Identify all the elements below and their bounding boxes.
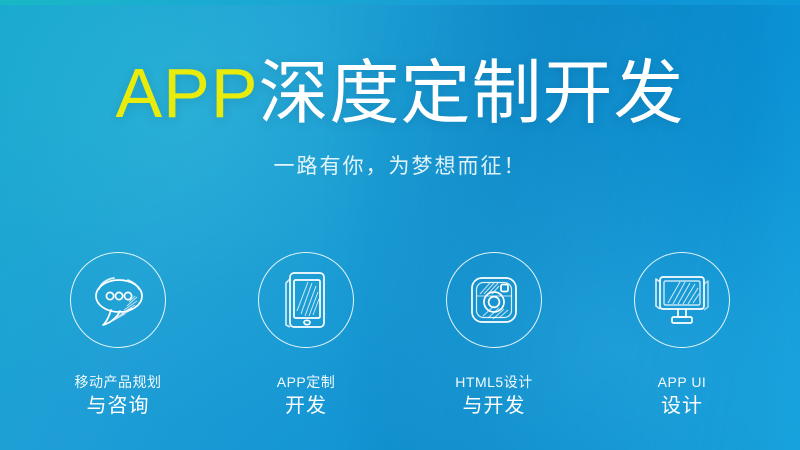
page-title: APP深度定制开发 xyxy=(0,58,800,128)
feature-label-bottom: 设计 xyxy=(658,395,707,419)
page-subtitle: 一路有你，为梦想而征！ xyxy=(0,150,800,180)
feature-list: 移动产品规划 与咨询 xyxy=(34,252,766,418)
feature-label-top: APP定制 xyxy=(277,374,336,391)
feature-icon-circle xyxy=(258,252,354,348)
promo-banner: APP深度定制开发 一路有你，为梦想而征！ xyxy=(0,0,800,450)
feature-label-bottom: 开发 xyxy=(277,395,336,419)
feature-label-top: APP UI xyxy=(658,374,707,391)
feature-item-app-development[interactable]: APP定制 开发 xyxy=(222,252,390,418)
headline-main: 深度定制开发 xyxy=(259,54,685,132)
desktop-monitor-icon xyxy=(650,271,714,329)
feature-label-bottom: 与咨询 xyxy=(75,395,162,419)
feature-label-bottom: 与开发 xyxy=(455,395,532,419)
camera-icon xyxy=(463,269,525,331)
feature-labels: APP UI 设计 xyxy=(658,374,707,418)
feature-labels: APP定制 开发 xyxy=(277,374,336,418)
feature-icon-circle xyxy=(634,252,730,348)
tablet-device-icon xyxy=(277,269,335,331)
background-top-edge-strip xyxy=(0,0,800,5)
feature-icon-circle xyxy=(446,252,542,348)
feature-label-top: 移动产品规划 xyxy=(75,374,162,391)
feature-item-app-ui[interactable]: APP UI 设计 xyxy=(598,252,766,418)
feature-labels: HTML5设计 与开发 xyxy=(455,374,532,418)
speech-bubble-icon xyxy=(87,271,149,329)
feature-item-html5[interactable]: HTML5设计 与开发 xyxy=(410,252,578,418)
headline-container: APP深度定制开发 xyxy=(0,58,800,128)
feature-label-top: HTML5设计 xyxy=(455,374,532,391)
headline-highlight: APP xyxy=(115,54,258,132)
feature-item-consulting[interactable]: 移动产品规划 与咨询 xyxy=(34,252,202,418)
feature-icon-circle xyxy=(70,252,166,348)
feature-labels: 移动产品规划 与咨询 xyxy=(75,374,162,418)
